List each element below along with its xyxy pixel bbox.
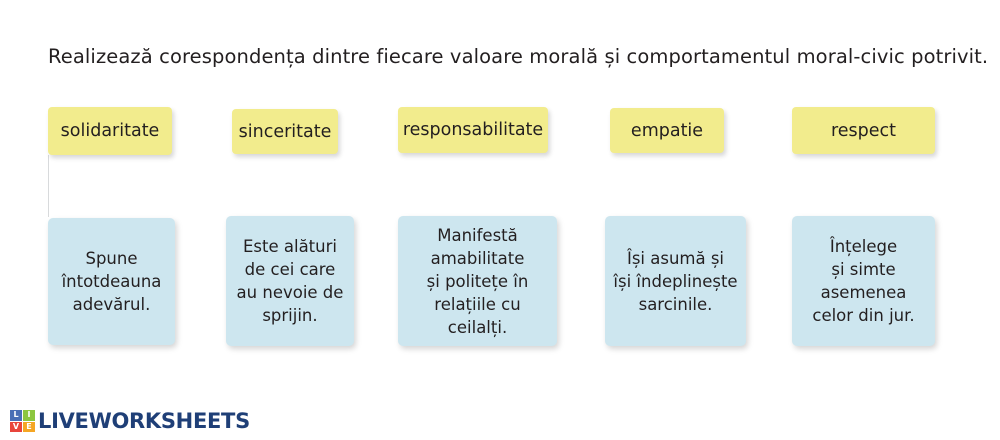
value-card-responsabilitate[interactable]: responsabilitate [398,107,548,153]
behaviour-card-text: Manifestă amabilitate și politețe în rel… [406,224,549,339]
liveworksheets-logo[interactable]: L I V E LIVEWORKSHEETS [10,408,250,434]
behaviour-card-text: Este alături de cei care au nevoie de sp… [237,235,344,327]
value-card-empatie[interactable]: empatie [610,108,724,153]
logo-letter-v: V [10,422,22,433]
logo-letter-l: L [10,410,22,421]
value-card-label: responsabilitate [403,120,543,140]
liveworksheets-grid-icon: L I V E [10,410,35,432]
worksheet-canvas: Realizează corespondența dintre fiecare … [0,0,1000,440]
logo-letter-e: E [23,422,35,433]
liveworksheets-wordmark: LIVEWORKSHEETS [38,409,250,433]
behaviour-card-text: Înțelege și simte asemenea celor din jur… [812,235,914,327]
value-card-sinceritate[interactable]: sinceritate [232,109,338,154]
behaviour-card-text: Spune întotdeauna adevărul. [62,247,162,316]
value-card-label: sinceritate [239,122,332,142]
logo-letter-i: I [23,410,35,421]
behaviour-card-text: Își asumă și își îndeplinește sarcinile. [613,247,737,316]
value-card-solidaritate[interactable]: solidaritate [48,107,172,155]
value-card-label: respect [831,121,896,141]
value-card-label: solidaritate [61,121,160,141]
value-card-label: empatie [631,121,703,141]
value-card-respect[interactable]: respect [792,107,935,154]
behaviour-card-5[interactable]: Înțelege și simte asemenea celor din jur… [792,216,935,346]
behaviour-card-1[interactable]: Spune întotdeauna adevărul. [48,218,175,345]
behaviour-card-3[interactable]: Manifestă amabilitate și politețe în rel… [398,216,557,346]
behaviour-card-2[interactable]: Este alături de cei care au nevoie de sp… [226,216,354,346]
cards-layer: solidaritate sinceritate responsabilitat… [0,0,1000,440]
behaviour-card-4[interactable]: Își asumă și își îndeplinește sarcinile. [605,216,746,346]
